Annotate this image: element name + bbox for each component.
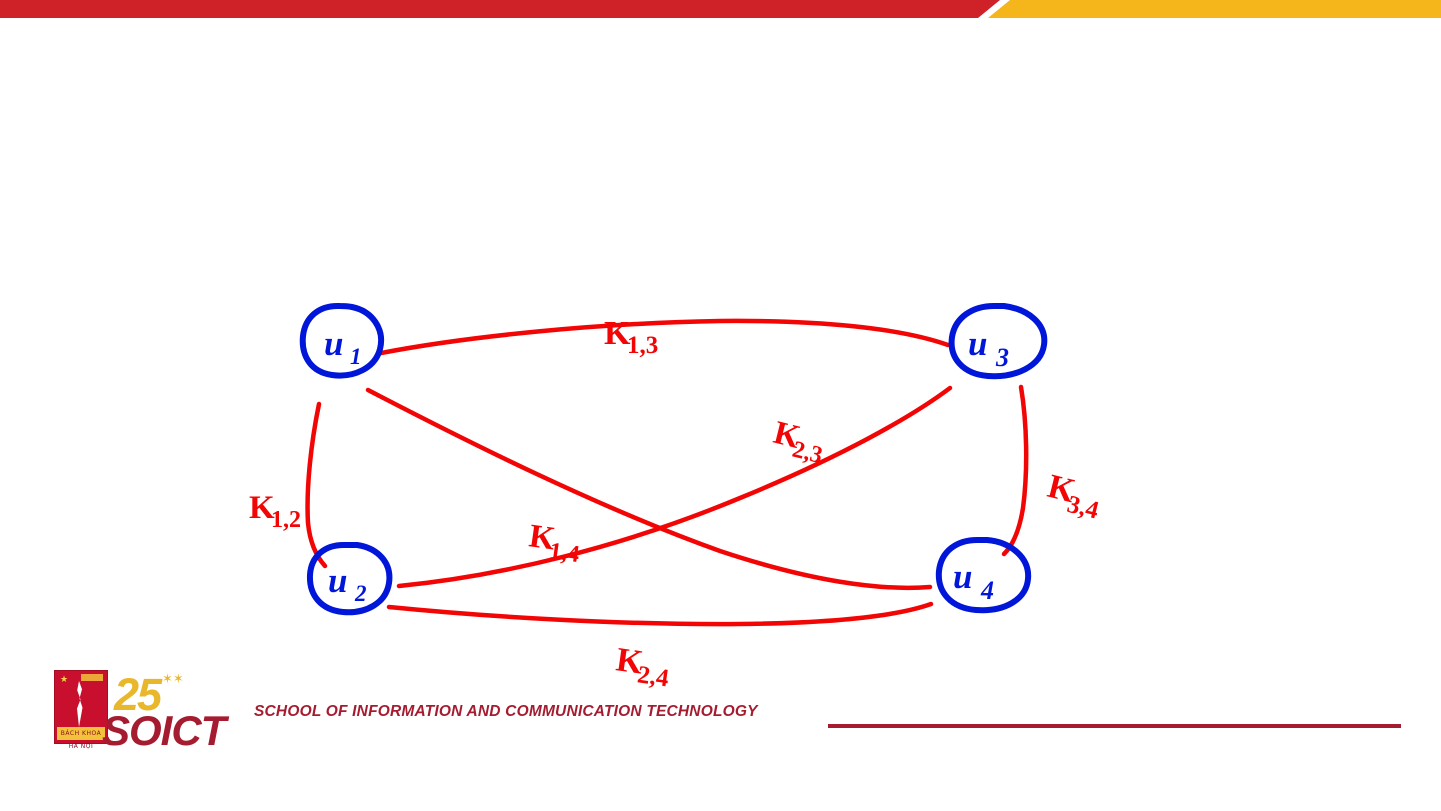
node-u4[interactable]: u 4: [939, 540, 1028, 610]
graph-nodes: u 1 u 2 u 3 u 4: [303, 306, 1045, 612]
edge-label-k12-sub: 1,2: [271, 507, 301, 533]
edge-label-k34: K 3,4: [1042, 468, 1106, 525]
top-bar-gold-segment: [988, 0, 1441, 18]
graph-edges: [308, 321, 1027, 624]
edge-u3-u4: [1004, 387, 1026, 554]
node-u1[interactable]: u 1: [303, 306, 381, 376]
soict-wordmark: SOICT: [102, 707, 225, 755]
edge-label-k23-sub: 2,3: [790, 437, 825, 469]
node-u1-label: u: [324, 324, 343, 363]
emblem-base-text: BÁCH KHOA HÀ NỘI: [57, 727, 105, 753]
node-u2-subscript: 2: [354, 581, 367, 606]
sparkle-icon: ✶✶: [162, 671, 184, 687]
edge-u2-u3: [399, 388, 950, 586]
emblem-base: BÁCH KHOA HÀ NỘI: [57, 727, 105, 740]
edge-u1-u3: [381, 321, 948, 353]
top-bar-shape: [0, 0, 1441, 18]
edge-label-k14: K 1,4: [526, 518, 583, 568]
emblem-gold-bar: [81, 674, 103, 681]
hust-emblem-icon: ★ BÁCH KHOA HÀ NỘI: [54, 670, 108, 744]
node-u2[interactable]: u 2: [310, 545, 389, 612]
slide-canvas: K 1,3 K 1,2 K 1,4 K 2,3 K 2,4 K 3,4: [0, 18, 1441, 658]
edge-label-k13-sub: 1,3: [627, 332, 658, 359]
edge-label-k12: K 1,2: [249, 490, 301, 533]
handwritten-graph-diagram: K 1,3 K 1,2 K 1,4 K 2,3 K 2,4 K 3,4: [0, 18, 1441, 718]
slide-footer: ★ BÁCH KHOA HÀ NỘI 25 ✶✶ SOICT SCHOOL OF…: [0, 655, 1441, 760]
edge-label-k23: K 2,3: [768, 415, 829, 469]
torch-icon: [75, 681, 85, 727]
edge-label-k14-sub: 1,4: [548, 538, 581, 568]
node-u1-subscript: 1: [350, 344, 362, 369]
node-u3-subscript: 3: [995, 343, 1009, 372]
node-u2-label: u: [328, 561, 347, 600]
soict-logo: ★ BÁCH KHOA HÀ NỘI 25 ✶✶ SOICT: [44, 663, 244, 753]
edge-u1-u4: [368, 390, 930, 588]
top-bar-red-segment: [0, 0, 1000, 18]
node-u3-label: u: [968, 324, 987, 363]
node-u4-label: u: [953, 557, 972, 596]
top-decorative-bar: [0, 0, 1441, 18]
edge-u2-u4: [389, 604, 931, 624]
footer-divider-rule: [828, 724, 1401, 728]
node-u4-subscript: 4: [980, 576, 994, 605]
star-icon: ★: [60, 675, 68, 684]
edge-label-k34-sub: 3,4: [1064, 491, 1101, 525]
footer-tagline: SCHOOL OF INFORMATION AND COMMUNICATION …: [254, 703, 758, 721]
node-u3[interactable]: u 3: [952, 306, 1045, 376]
edge-u1-u2: [308, 404, 325, 566]
node-u2-circle: [310, 545, 389, 612]
